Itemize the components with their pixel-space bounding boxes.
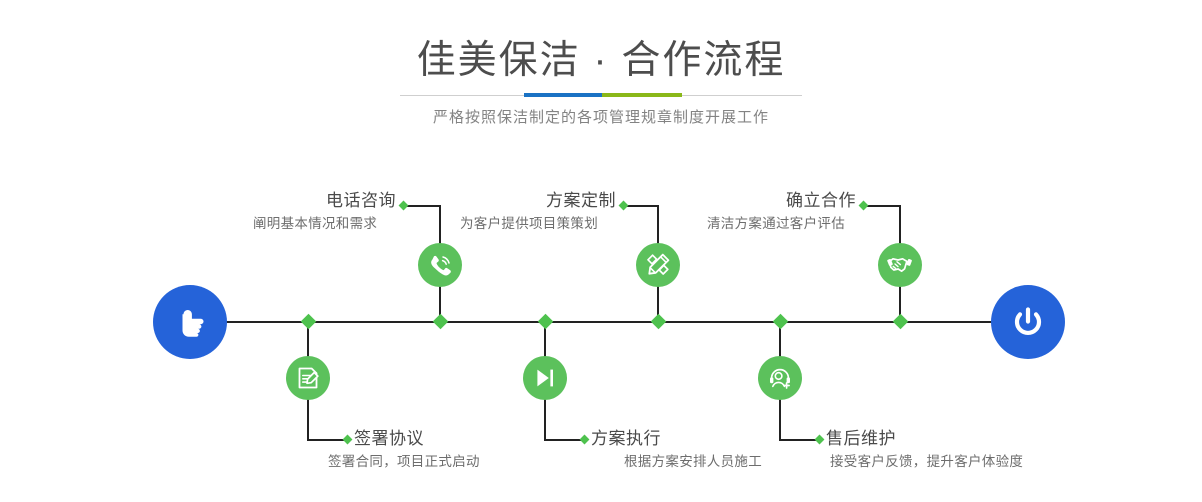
timeline-end-endpoint[interactable] xyxy=(991,285,1065,359)
connector-horizontal-4 xyxy=(544,439,584,441)
step-title-3: 方案定制 xyxy=(464,190,616,212)
step-title-4: 方案执行 xyxy=(591,428,661,450)
connector-horizontal-2 xyxy=(307,439,347,441)
timeline-node-1 xyxy=(433,314,449,330)
connector-horizontal-6 xyxy=(779,439,819,441)
step-desc-2: 签署合同，项目正式启动 xyxy=(328,452,480,472)
step-icon-5[interactable] xyxy=(878,243,922,287)
connector-horizontal-1 xyxy=(404,205,441,207)
connector-horizontal-5 xyxy=(864,205,901,207)
pencil-ruler-icon xyxy=(645,252,671,278)
timeline-node-3 xyxy=(651,314,667,330)
step-desc-5: 清洁方案通过客户评估 xyxy=(707,214,845,234)
step-title-2: 签署协议 xyxy=(354,428,424,450)
customer-service-icon xyxy=(767,365,793,391)
phone-call-icon xyxy=(427,252,453,278)
step-desc-6: 接受客户反馈，提升客户体验度 xyxy=(830,452,1023,472)
label-node-4 xyxy=(580,435,590,445)
pointing-hand-icon xyxy=(170,302,210,342)
step-desc-4: 根据方案安排人员施工 xyxy=(624,452,762,472)
step-icon-1[interactable] xyxy=(418,243,462,287)
timeline-start-endpoint[interactable] xyxy=(153,285,227,359)
connector-horizontal-3 xyxy=(624,205,659,207)
step-icon-3[interactable] xyxy=(636,243,680,287)
step-desc-1: 阐明基本情况和需求 xyxy=(253,214,377,234)
step-icon-2[interactable] xyxy=(286,356,330,400)
power-button-icon xyxy=(1008,302,1048,342)
label-node-1 xyxy=(399,201,409,211)
step-icon-4[interactable] xyxy=(523,356,567,400)
step-desc-3: 为客户提供项目策策划 xyxy=(460,214,598,234)
timeline-node-2 xyxy=(301,314,317,330)
step-title-1: 电话咨询 xyxy=(244,190,396,212)
play-skip-icon xyxy=(532,365,558,391)
document-sign-icon xyxy=(295,365,321,391)
timeline-node-5 xyxy=(893,314,909,330)
step-icon-6[interactable] xyxy=(758,356,802,400)
label-node-3 xyxy=(619,201,629,211)
timeline: 电话咨询 阐明基本情况和需求 签署协议 签署合同，项目正式启动 xyxy=(0,0,1202,502)
flow-infographic: 佳美保洁 · 合作流程 严格按照保洁制定的各项管理规章制度开展工作 xyxy=(0,0,1202,502)
label-node-5 xyxy=(859,201,869,211)
step-title-5: 确立合作 xyxy=(704,190,856,212)
timeline-node-4 xyxy=(538,314,554,330)
handshake-icon xyxy=(887,252,913,278)
label-node-2 xyxy=(343,435,353,445)
timeline-node-6 xyxy=(773,314,789,330)
label-node-6 xyxy=(815,435,825,445)
step-title-6: 售后维护 xyxy=(826,428,896,450)
